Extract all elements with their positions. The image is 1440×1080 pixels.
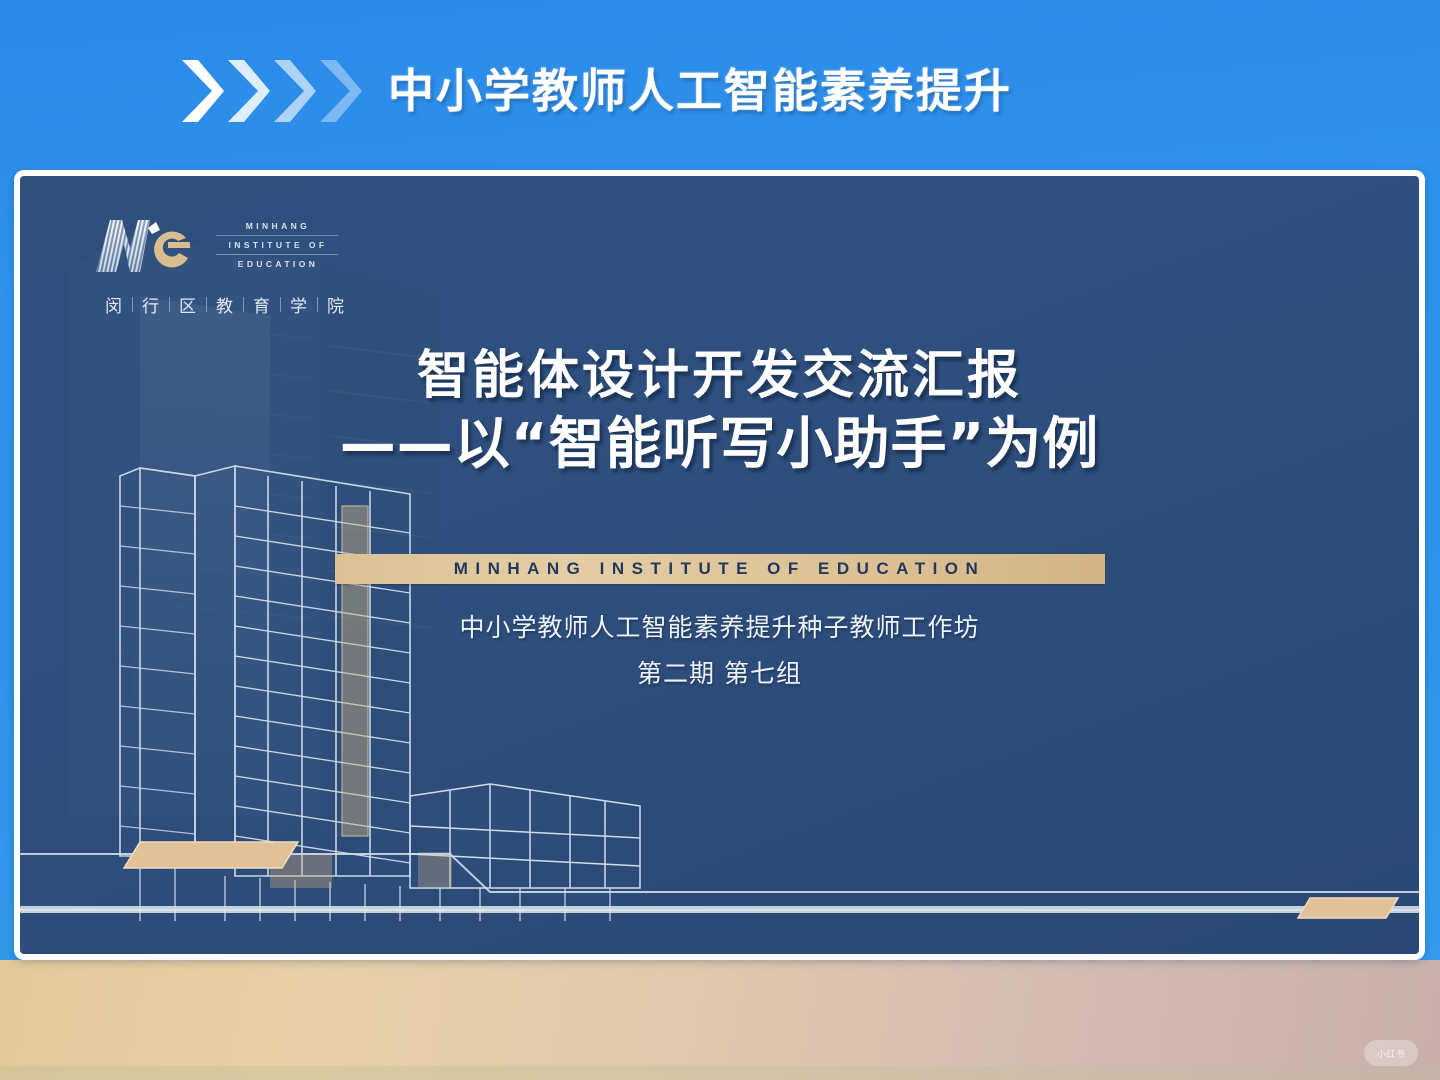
institute-logo: MINHANG INSTITUTE OF EDUCATION 闵 行 区 教 育: [90, 214, 350, 326]
chevron-right-icon: [270, 58, 316, 124]
watermark: 小红书: [1364, 1040, 1418, 1066]
chevron-right-icon: [224, 58, 270, 124]
logo-chinese-name: 闵 行 区 教 育 学 院: [96, 292, 354, 317]
chevron-right-icon: [178, 58, 224, 124]
logo-cn-char: 育: [244, 292, 280, 317]
gold-banner: MINHANG INSTITUTE OF EDUCATION: [335, 554, 1105, 584]
slide-title-line2: ——以“智能听写小助手”为例: [20, 411, 1419, 479]
header-title: 中小学教师人工智能素养提升: [388, 58, 1012, 124]
slide-frame: MINHANG INSTITUTE OF EDUCATION 闵 行 区 教 育: [14, 170, 1425, 960]
logo-cn-char: 学: [281, 292, 317, 317]
slide-canvas: MINHANG INSTITUTE OF EDUCATION 闵 行 区 教 育: [20, 176, 1419, 954]
logo-cn-char: 院: [318, 292, 354, 317]
logo-line-institute: INSTITUTE OF: [216, 235, 338, 254]
logo-text-lines: MINHANG INSTITUTE OF EDUCATION: [216, 217, 338, 273]
logo-top-row: MINHANG INSTITUTE OF EDUCATION: [90, 214, 338, 276]
slide-title-block: 智能体设计开发交流汇报 ——以“智能听写小助手”为例: [20, 346, 1419, 480]
chevron-right-icon: [316, 58, 362, 124]
logo-line-minhang: MINHANG: [216, 217, 338, 235]
logo-cn-char: 区: [170, 292, 206, 317]
logo-cn-char: 行: [133, 292, 169, 317]
mie-monogram-icon: [90, 214, 200, 276]
slide-subtitle-line2: 第二期 第七组: [20, 654, 1419, 690]
page-background-bottom-gradient: [0, 960, 1440, 1080]
screenshot-root: 中小学教师人工智能素养提升: [0, 0, 1440, 1080]
page-header: 中小学教师人工智能素养提升: [0, 0, 1440, 150]
logo-line-education: EDUCATION: [216, 254, 338, 273]
chevron-group: [178, 58, 368, 124]
logo-cn-char: 闵: [96, 292, 132, 317]
logo-cn-char: 教: [207, 292, 243, 317]
slide-subtitle-line1: 中小学教师人工智能素养提升种子教师工作坊: [20, 608, 1419, 644]
slide-title-line1: 智能体设计开发交流汇报: [20, 346, 1419, 407]
bottom-decoration: [20, 794, 1419, 954]
